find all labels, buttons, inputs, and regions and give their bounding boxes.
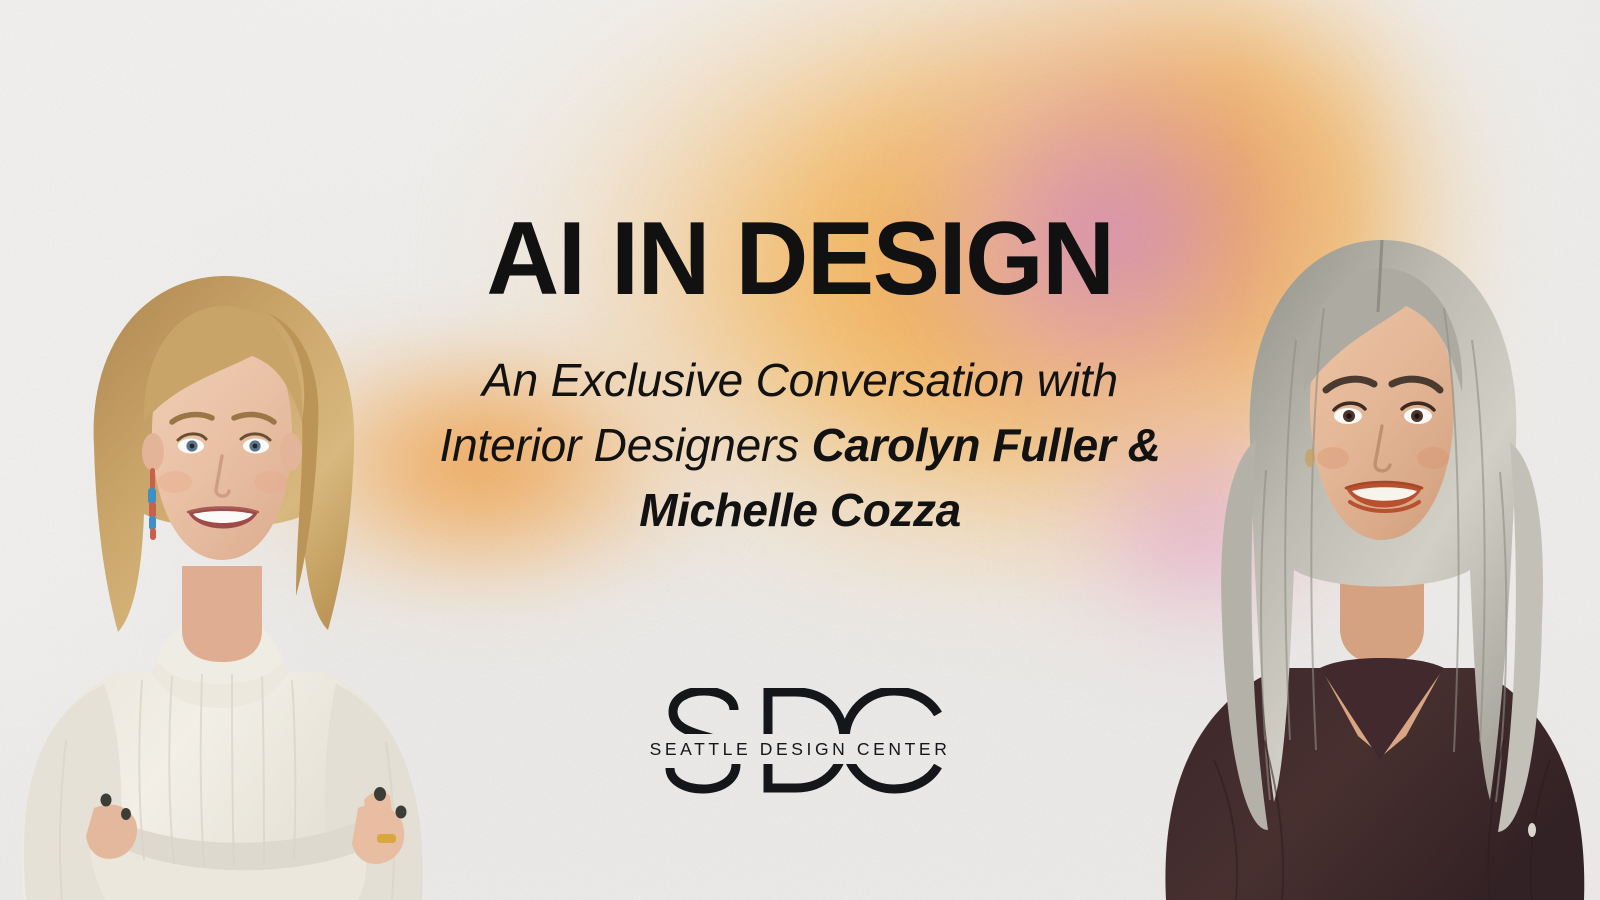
subtitle-line-2: Interior Designers Carolyn Fuller & [0, 413, 1600, 478]
sdc-logo: SEATTLE DESIGN CENTER [650, 688, 950, 810]
promo-poster: AI IN DESIGN An Exclusive Conversation w… [0, 0, 1600, 900]
subtitle-segment-speaker-carolyn: Carolyn Fuller & [812, 419, 1161, 471]
sdc-wordmark: SEATTLE DESIGN CENTER [650, 739, 950, 759]
poster-subtitle: An Exclusive Conversation with Interior … [0, 348, 1600, 543]
poster-title: AI IN DESIGN [24, 206, 1576, 312]
subtitle-segment-speaker-michelle: Michelle Cozza [639, 484, 961, 536]
subtitle-segment-light: Interior Designers [440, 419, 812, 471]
subtitle-line-1: An Exclusive Conversation with [0, 348, 1600, 413]
subtitle-segment-light: An Exclusive Conversation with [482, 354, 1118, 406]
poster-content: AI IN DESIGN An Exclusive Conversation w… [0, 0, 1600, 900]
subtitle-line-3: Michelle Cozza [0, 478, 1600, 543]
